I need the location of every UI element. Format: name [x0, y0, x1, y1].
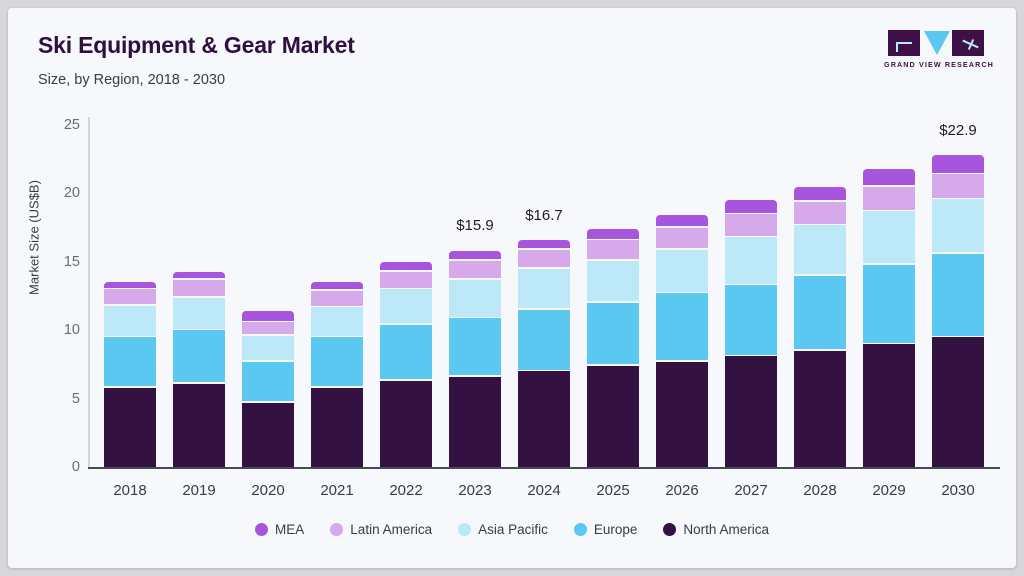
bar-segment-asia-pacific[interactable] [173, 298, 225, 329]
bar-segment-mea[interactable] [518, 240, 570, 248]
bar-segment-europe[interactable] [104, 337, 156, 386]
bar-segment-europe[interactable] [449, 318, 501, 375]
bar-segment-mea[interactable] [932, 155, 984, 173]
bar-segment-asia-pacific[interactable] [656, 250, 708, 292]
bar-segment-north-america[interactable] [932, 337, 984, 467]
x-axis-tick-2025: 2025 [583, 482, 643, 499]
bar-segment-europe[interactable] [380, 325, 432, 380]
bar-segment-north-america[interactable] [104, 388, 156, 467]
x-axis-tick-2027: 2027 [721, 482, 781, 499]
legend-label: MEA [275, 522, 304, 537]
x-axis-tick-2021: 2021 [307, 482, 367, 499]
x-axis-tick-2024: 2024 [514, 482, 574, 499]
bar-segment-asia-pacific[interactable] [932, 199, 984, 252]
chart-card: Ski Equipment & Gear Market Size, by Reg… [8, 8, 1016, 568]
bar-segment-latin-america[interactable] [242, 322, 294, 334]
chart-legend: MEALatin AmericaAsia PacificEuropeNorth … [8, 522, 1016, 537]
bar-segment-asia-pacific[interactable] [104, 306, 156, 336]
bar-segment-latin-america[interactable] [932, 174, 984, 197]
x-axis-tick-2030: 2030 [928, 482, 988, 499]
x-axis-tick-2018: 2018 [100, 482, 160, 499]
x-axis-tick-2026: 2026 [652, 482, 712, 499]
y-axis-tick-5: 5 [34, 391, 80, 407]
y-axis-tick-0: 0 [34, 459, 80, 475]
y-axis-tick-20: 20 [34, 185, 80, 201]
bar-segment-latin-america[interactable] [449, 261, 501, 279]
bar-segment-north-america[interactable] [587, 366, 639, 467]
x-axis-tick-2028: 2028 [790, 482, 850, 499]
bar-segment-mea[interactable] [311, 282, 363, 289]
bar-value-label-2024: $16.7 [504, 207, 584, 224]
bar-chart: Market Size (US$B) 0510152025 2018201920… [8, 8, 1016, 568]
legend-label: North America [683, 522, 769, 537]
legend-item-north-america[interactable]: North America [663, 522, 769, 537]
bar-segment-asia-pacific[interactable] [242, 336, 294, 360]
bar-segment-asia-pacific[interactable] [587, 261, 639, 302]
y-axis-ticks: 0510152025 [34, 8, 80, 568]
bar-segment-europe[interactable] [725, 285, 777, 355]
bar-segment-north-america[interactable] [449, 377, 501, 467]
legend-swatch-icon [663, 523, 676, 536]
bar-segment-europe[interactable] [794, 276, 846, 350]
legend-item-europe[interactable]: Europe [574, 522, 638, 537]
x-axis-tick-2019: 2019 [169, 482, 229, 499]
bar-segment-asia-pacific[interactable] [380, 289, 432, 323]
bar-segment-north-america[interactable] [311, 388, 363, 467]
bar-segment-latin-america[interactable] [104, 289, 156, 304]
legend-label: Latin America [350, 522, 432, 537]
legend-label: Europe [594, 522, 638, 537]
bar-value-label-2030: $22.9 [918, 122, 998, 139]
bar-segment-mea[interactable] [173, 272, 225, 279]
bar-segment-asia-pacific[interactable] [449, 280, 501, 317]
bar-segment-latin-america[interactable] [518, 250, 570, 268]
bar-segment-asia-pacific[interactable] [311, 307, 363, 336]
bar-segment-latin-america[interactable] [173, 280, 225, 296]
x-axis-tick-2020: 2020 [238, 482, 298, 499]
bar-segment-europe[interactable] [587, 303, 639, 364]
bar-segment-asia-pacific[interactable] [863, 211, 915, 263]
bar-segment-mea[interactable] [587, 229, 639, 238]
bar-segment-latin-america[interactable] [587, 240, 639, 259]
bar-segment-asia-pacific[interactable] [794, 225, 846, 274]
bar-segment-mea[interactable] [656, 215, 708, 226]
y-axis-tick-25: 25 [34, 117, 80, 133]
bar-segment-europe[interactable] [863, 265, 915, 343]
bar-segment-north-america[interactable] [794, 351, 846, 467]
bar-segment-north-america[interactable] [380, 381, 432, 467]
bar-segment-europe[interactable] [932, 254, 984, 336]
bar-segment-north-america[interactable] [242, 403, 294, 467]
bar-segment-mea[interactable] [794, 187, 846, 201]
bar-segment-mea[interactable] [380, 262, 432, 270]
bar-segment-asia-pacific[interactable] [518, 269, 570, 309]
bar-segment-north-america[interactable] [173, 384, 225, 467]
bar-segment-europe[interactable] [173, 330, 225, 382]
bar-segment-latin-america[interactable] [380, 272, 432, 288]
legend-swatch-icon [458, 523, 471, 536]
bar-segment-north-america[interactable] [518, 371, 570, 467]
bar-segment-europe[interactable] [242, 362, 294, 402]
legend-swatch-icon [330, 523, 343, 536]
legend-item-asia-pacific[interactable]: Asia Pacific [458, 522, 548, 537]
bar-segment-mea[interactable] [725, 200, 777, 212]
bar-segment-latin-america[interactable] [863, 187, 915, 210]
bar-segment-mea[interactable] [104, 282, 156, 287]
legend-item-mea[interactable]: MEA [255, 522, 304, 537]
bar-segment-mea[interactable] [449, 251, 501, 259]
legend-item-latin-america[interactable]: Latin America [330, 522, 432, 537]
legend-label: Asia Pacific [478, 522, 548, 537]
x-axis-tick-2022: 2022 [376, 482, 436, 499]
bar-segment-latin-america[interactable] [794, 202, 846, 224]
bar-segment-mea[interactable] [242, 311, 294, 320]
bar-segment-europe[interactable] [311, 337, 363, 386]
x-axis-tick-2029: 2029 [859, 482, 919, 499]
y-axis-tick-15: 15 [34, 254, 80, 270]
bars-container: 201820192020202120222023$15.92024$16.720… [104, 8, 1004, 568]
bar-segment-latin-america[interactable] [725, 214, 777, 236]
bar-value-label-2023: $15.9 [435, 217, 515, 234]
bar-segment-europe[interactable] [518, 310, 570, 370]
bar-segment-north-america[interactable] [863, 344, 915, 467]
bar-segment-north-america[interactable] [656, 362, 708, 467]
bar-segment-asia-pacific[interactable] [725, 237, 777, 283]
bar-segment-latin-america[interactable] [311, 291, 363, 306]
bar-segment-north-america[interactable] [725, 356, 777, 467]
y-axis-line [88, 117, 90, 469]
legend-swatch-icon [255, 523, 268, 536]
x-axis-tick-2023: 2023 [445, 482, 505, 499]
y-axis-tick-10: 10 [34, 322, 80, 338]
legend-swatch-icon [574, 523, 587, 536]
bar-segment-europe[interactable] [656, 293, 708, 360]
bar-segment-mea[interactable] [863, 169, 915, 185]
bar-segment-latin-america[interactable] [656, 228, 708, 248]
